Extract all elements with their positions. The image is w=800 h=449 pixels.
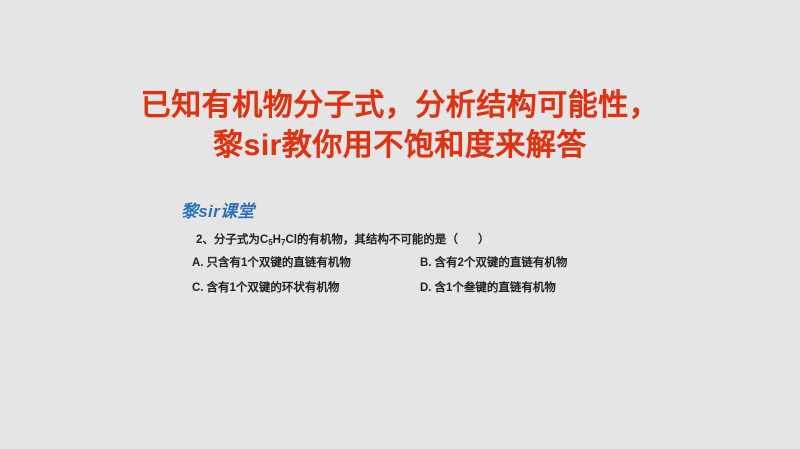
formula-cl: Cl	[285, 234, 297, 246]
formula-c: C	[260, 234, 268, 246]
question-text-after: 的有机物，其结构不可能的是	[297, 234, 447, 246]
option-d-label: 含1个叁键的直链有机物	[435, 282, 556, 294]
option-b-key: B.	[420, 257, 432, 269]
option-b[interactable]: B.含有2个双键的直链有机物	[420, 257, 621, 270]
title-line-2: 黎sir教你用不饱和度来解答	[0, 126, 800, 166]
option-d-key: D.	[420, 282, 432, 294]
molecular-formula: C5H7Cl	[260, 234, 297, 246]
formula-c-subscript: 5	[268, 238, 272, 247]
option-d[interactable]: D.含1个叁键的直链有机物	[420, 282, 621, 295]
question-text-before: 分子式为	[214, 234, 260, 246]
option-c[interactable]: C.含有1个双键的环状有机物	[192, 282, 420, 295]
answer-paren-close: ）	[478, 234, 490, 246]
option-c-label: 含有1个双键的环状有机物	[207, 282, 340, 294]
formula-h: H	[273, 234, 281, 246]
question-stem: 2、分子式为C5H7Cl的有机物，其结构不可能的是（）	[196, 234, 621, 247]
slide-title: 已知有机物分子式，分析结构可能性， 黎sir教你用不饱和度来解答	[0, 86, 800, 165]
brand-label: 黎sir课堂	[181, 203, 621, 220]
question-card: 黎sir课堂 2、分子式为C5H7Cl的有机物，其结构不可能的是（） A.只含有…	[181, 203, 621, 295]
slide-canvas: 已知有机物分子式，分析结构可能性， 黎sir教你用不饱和度来解答 黎sir课堂 …	[0, 0, 800, 449]
options-grid: A.只含有1个双键的直链有机物 B.含有2个双键的直链有机物 C.含有1个双键的…	[192, 257, 621, 295]
title-line-1: 已知有机物分子式，分析结构可能性，	[0, 86, 800, 126]
option-a[interactable]: A.只含有1个双键的直链有机物	[192, 257, 420, 270]
question-number: 2、	[196, 234, 214, 246]
formula-h-subscript: 7	[281, 238, 285, 247]
answer-paren-open: （	[446, 234, 458, 246]
option-a-label: 只含有1个双键的直链有机物	[207, 257, 351, 269]
option-c-key: C.	[192, 282, 204, 294]
option-b-label: 含有2个双键的直链有机物	[435, 257, 568, 269]
option-a-key: A.	[192, 257, 204, 269]
